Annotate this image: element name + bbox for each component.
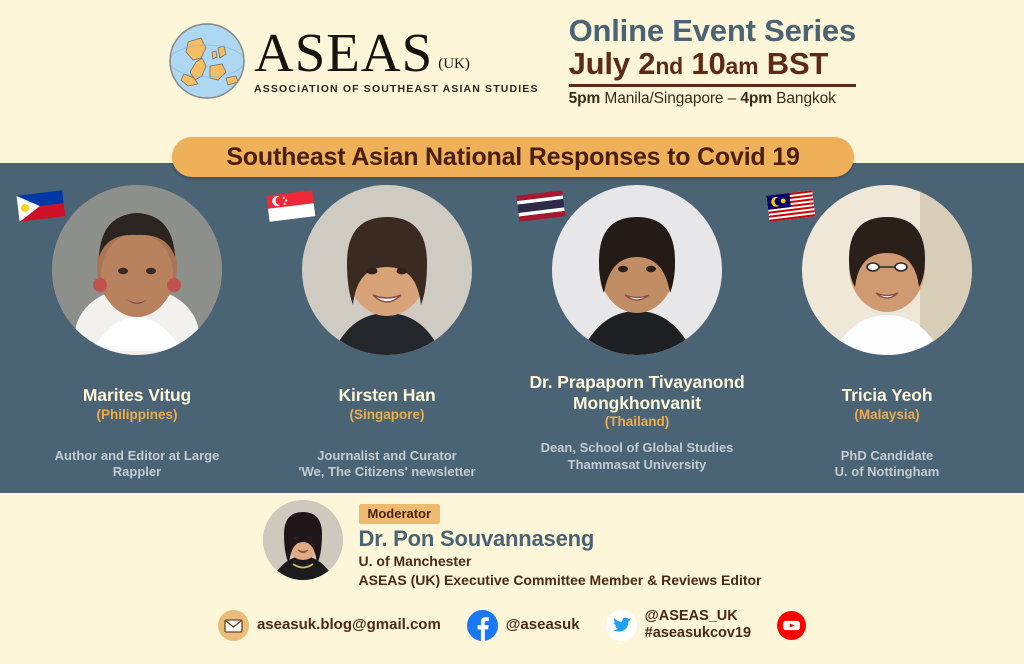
tz-manila-time: 5pm <box>569 90 601 107</box>
email-link[interactable]: aseasuk.blog@gmail.com <box>218 610 441 641</box>
tz-bangkok-time: 4pm <box>740 90 772 107</box>
event-timezone: BST <box>758 46 828 81</box>
youtube-icon <box>777 611 806 640</box>
speaker-role-line2: 'We, The Citizens' newsletter <box>298 464 475 479</box>
event-meridiem: am <box>726 53 759 79</box>
event-date-ordinal: nd <box>655 53 683 79</box>
speaker-role-line2: Thammasat University <box>568 457 707 472</box>
malaysia-flag-icon <box>764 187 818 227</box>
moderator-role: ASEAS (UK) Executive Committee Member & … <box>359 571 762 590</box>
twitter-handle: @ASEAS_UK <box>645 608 751 625</box>
event-date-day: July 2 <box>569 46 656 81</box>
page-title: Southeast Asian National Responses to Co… <box>226 143 799 172</box>
aseas-full-name: ASSOCIATION OF SOUTHEAST ASIAN STUDIES <box>254 83 539 95</box>
youtube-link[interactable] <box>777 611 806 640</box>
event-details: Online Event Series July 2nd 10am BST 5p… <box>569 14 856 108</box>
speaker-role-line1: Author and Editor at Large <box>55 448 220 463</box>
speakers-list: Marites Vitug (Philippines) Author and E… <box>0 185 1024 481</box>
speaker-name: Kirsten Han <box>338 385 435 406</box>
speaker-photo-marites-vitug <box>52 185 222 355</box>
event-divider <box>569 84 856 87</box>
moderator-name: Dr. Pon Souvannaseng <box>359 526 595 552</box>
poster-title-banner: Southeast Asian National Responses to Co… <box>172 137 854 177</box>
envelope-icon <box>218 610 249 641</box>
event-other-timezones: 5pm Manila/Singapore – 4pm Bangkok <box>569 90 836 108</box>
tz-manila-label: Manila/Singapore – <box>600 90 740 107</box>
speaker-country: (Malaysia) <box>854 407 919 422</box>
singapore-flag-icon <box>264 187 318 227</box>
aseas-acronym: ASEAS <box>254 27 433 79</box>
facebook-link[interactable]: @aseasuk <box>467 610 580 641</box>
twitter-handles: @ASEAS_UK #aseasukcov19 <box>645 608 751 643</box>
speaker-role-line2: Rappler <box>113 464 161 479</box>
moderator-affiliation: U. of Manchester <box>359 552 472 571</box>
speaker-role-line2: U. of Nottingham <box>835 464 940 479</box>
aseas-uk-suffix: (UK) <box>438 56 470 80</box>
speaker-card-thailand: Dr. Prapaporn Tivayanond Mongkhonvanit (… <box>512 185 762 474</box>
speaker-role-line1: PhD Candidate <box>841 448 933 463</box>
speaker-photo-tricia-yeoh <box>802 185 972 355</box>
speaker-name: Marites Vitug <box>83 385 191 406</box>
speaker-photo-prapaporn <box>552 185 722 355</box>
social-links: aseasuk.blog@gmail.com @aseasuk @ASEAS_U… <box>0 608 1024 643</box>
event-date-time: July 2nd 10am BST <box>569 47 829 82</box>
event-poster: ASEAS (UK) ASSOCIATION OF SOUTHEAST ASIA… <box>0 0 1024 664</box>
philippines-flag-icon <box>14 187 68 227</box>
moderator-photo <box>263 500 343 580</box>
speaker-card-philippines: Marites Vitug (Philippines) Author and E… <box>12 185 262 481</box>
moderator-badge: Moderator <box>359 504 441 524</box>
globe-southeast-asia-icon <box>168 22 246 100</box>
speaker-card-malaysia: Tricia Yeoh (Malaysia) PhD Candidate U. … <box>762 185 1012 481</box>
speaker-role-line1: Dean, School of Global Studies <box>541 440 734 455</box>
event-hour: 10 <box>683 46 726 81</box>
speaker-photo-kirsten-han <box>302 185 472 355</box>
event-series-title: Online Event Series <box>569 14 856 47</box>
speaker-name: Dr. Prapaporn Tivayanond Mongkhonvanit <box>512 372 762 413</box>
facebook-icon <box>467 610 498 641</box>
speaker-country: (Philippines) <box>97 407 178 422</box>
speaker-role-line1: Journalist and Curator <box>317 448 456 463</box>
thailand-flag-icon <box>514 187 568 227</box>
twitter-bird-icon <box>606 610 637 641</box>
tz-bangkok-label: Bangkok <box>772 90 836 107</box>
speaker-country: (Thailand) <box>605 414 670 429</box>
email-address: aseasuk.blog@gmail.com <box>257 616 441 634</box>
moderator-section: Moderator Dr. Pon Souvannaseng U. of Man… <box>0 500 1024 590</box>
facebook-handle: @aseasuk <box>506 616 580 634</box>
aseas-logo: ASEAS (UK) ASSOCIATION OF SOUTHEAST ASIA… <box>168 22 539 100</box>
speaker-name: Tricia Yeoh <box>842 385 933 406</box>
speaker-country: (Singapore) <box>349 407 424 422</box>
speaker-card-singapore: Kirsten Han (Singapore) Journalist and C… <box>262 185 512 481</box>
twitter-link[interactable]: @ASEAS_UK #aseasukcov19 <box>606 608 751 643</box>
twitter-hashtag: #aseasukcov19 <box>645 625 751 642</box>
